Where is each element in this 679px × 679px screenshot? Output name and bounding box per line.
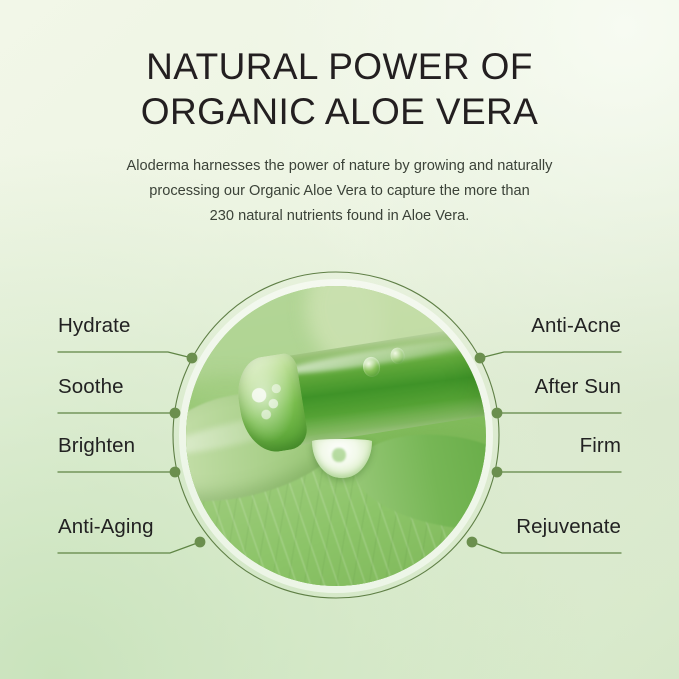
benefit-label-anti-acne[interactable]: Anti-Acne: [531, 314, 621, 338]
dot-hydrate: [187, 353, 198, 364]
benefit-label-soothe[interactable]: Soothe: [58, 375, 124, 399]
page-title: NATURAL POWER OF ORGANIC ALOE VERA: [0, 44, 679, 134]
benefit-label-firm[interactable]: Firm: [580, 434, 621, 458]
dot-rejuvenate: [467, 537, 478, 548]
dot-firm: [492, 467, 503, 478]
connector-dots: [170, 353, 503, 548]
dot-anti-acne: [475, 353, 486, 364]
dot-brighten: [170, 467, 181, 478]
page-subtitle: Aloderma harnesses the power of nature b…: [0, 154, 679, 229]
benefit-label-rejuvenate[interactable]: Rejuvenate: [516, 515, 621, 539]
benefit-label-anti-aging[interactable]: Anti-Aging: [58, 515, 154, 539]
header: NATURAL POWER OF ORGANIC ALOE VERA Alode…: [0, 44, 679, 229]
benefit-label-after-sun[interactable]: After Sun: [535, 375, 621, 399]
benefit-label-brighten[interactable]: Brighten: [58, 434, 135, 458]
dot-anti-aging: [195, 537, 206, 548]
outer-ring: [173, 272, 499, 598]
dot-after-sun: [492, 408, 503, 419]
dot-soothe: [170, 408, 181, 419]
benefit-label-hydrate[interactable]: Hydrate: [58, 314, 130, 338]
